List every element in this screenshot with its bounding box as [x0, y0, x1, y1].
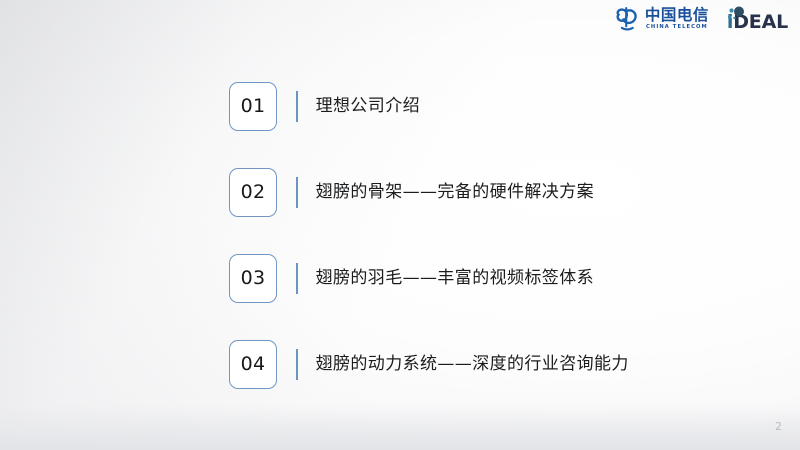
agenda-number-04: 04	[241, 355, 266, 374]
agenda-label-04: 翅膀的动力系统——深度的行业咨询能力	[316, 356, 629, 373]
agenda-item-01[interactable]: 01 理想公司介绍	[229, 82, 629, 131]
agenda-divider-04	[296, 349, 298, 380]
agenda-divider-01	[296, 91, 298, 122]
agenda-number-03: 03	[241, 269, 266, 288]
agenda-label-02: 翅膀的骨架——完备的硬件解决方案	[316, 184, 594, 201]
china-telecom-english-text: CHINA TELECOM	[646, 25, 708, 30]
agenda-number-box-02: 02	[229, 168, 277, 217]
agenda-item-04[interactable]: 04 翅膀的动力系统——深度的行业咨询能力	[229, 340, 629, 389]
agenda-label-01: 理想公司介绍	[316, 98, 420, 115]
agenda-number-box-03: 03	[229, 254, 277, 303]
ideal-dots-icon	[727, 6, 749, 22]
china-telecom-chinese-text: 中国电信	[645, 8, 709, 24]
page-number: 2	[775, 421, 782, 432]
logo-bar: 中国电信 CHINA TELECOM iDEAL	[614, 6, 788, 32]
china-telecom-wordmark: 中国电信 CHINA TELECOM	[645, 8, 709, 31]
agenda-item-02[interactable]: 02 翅膀的骨架——完备的硬件解决方案	[229, 168, 629, 217]
ideal-logo: iDEAL	[727, 6, 788, 32]
agenda-item-03[interactable]: 03 翅膀的羽毛——丰富的视频标签体系	[229, 254, 629, 303]
china-telecom-logo: 中国电信 CHINA TELECOM	[614, 6, 709, 32]
agenda-divider-02	[296, 177, 298, 208]
agenda-label-03: 翅膀的羽毛——丰富的视频标签体系	[316, 270, 594, 287]
agenda-number-02: 02	[241, 183, 266, 202]
agenda-number-box-04: 04	[229, 340, 277, 389]
agenda-divider-03	[296, 263, 298, 294]
agenda-number-box-01: 01	[229, 82, 277, 131]
china-telecom-mark-icon	[614, 6, 640, 32]
slide-canvas: 中国电信 CHINA TELECOM iDEAL 01 理想公司介绍	[0, 0, 800, 450]
agenda-list: 01 理想公司介绍 02 翅膀的骨架——完备的硬件解决方案 03 翅膀的羽毛——…	[229, 82, 629, 389]
agenda-number-01: 01	[241, 97, 266, 116]
